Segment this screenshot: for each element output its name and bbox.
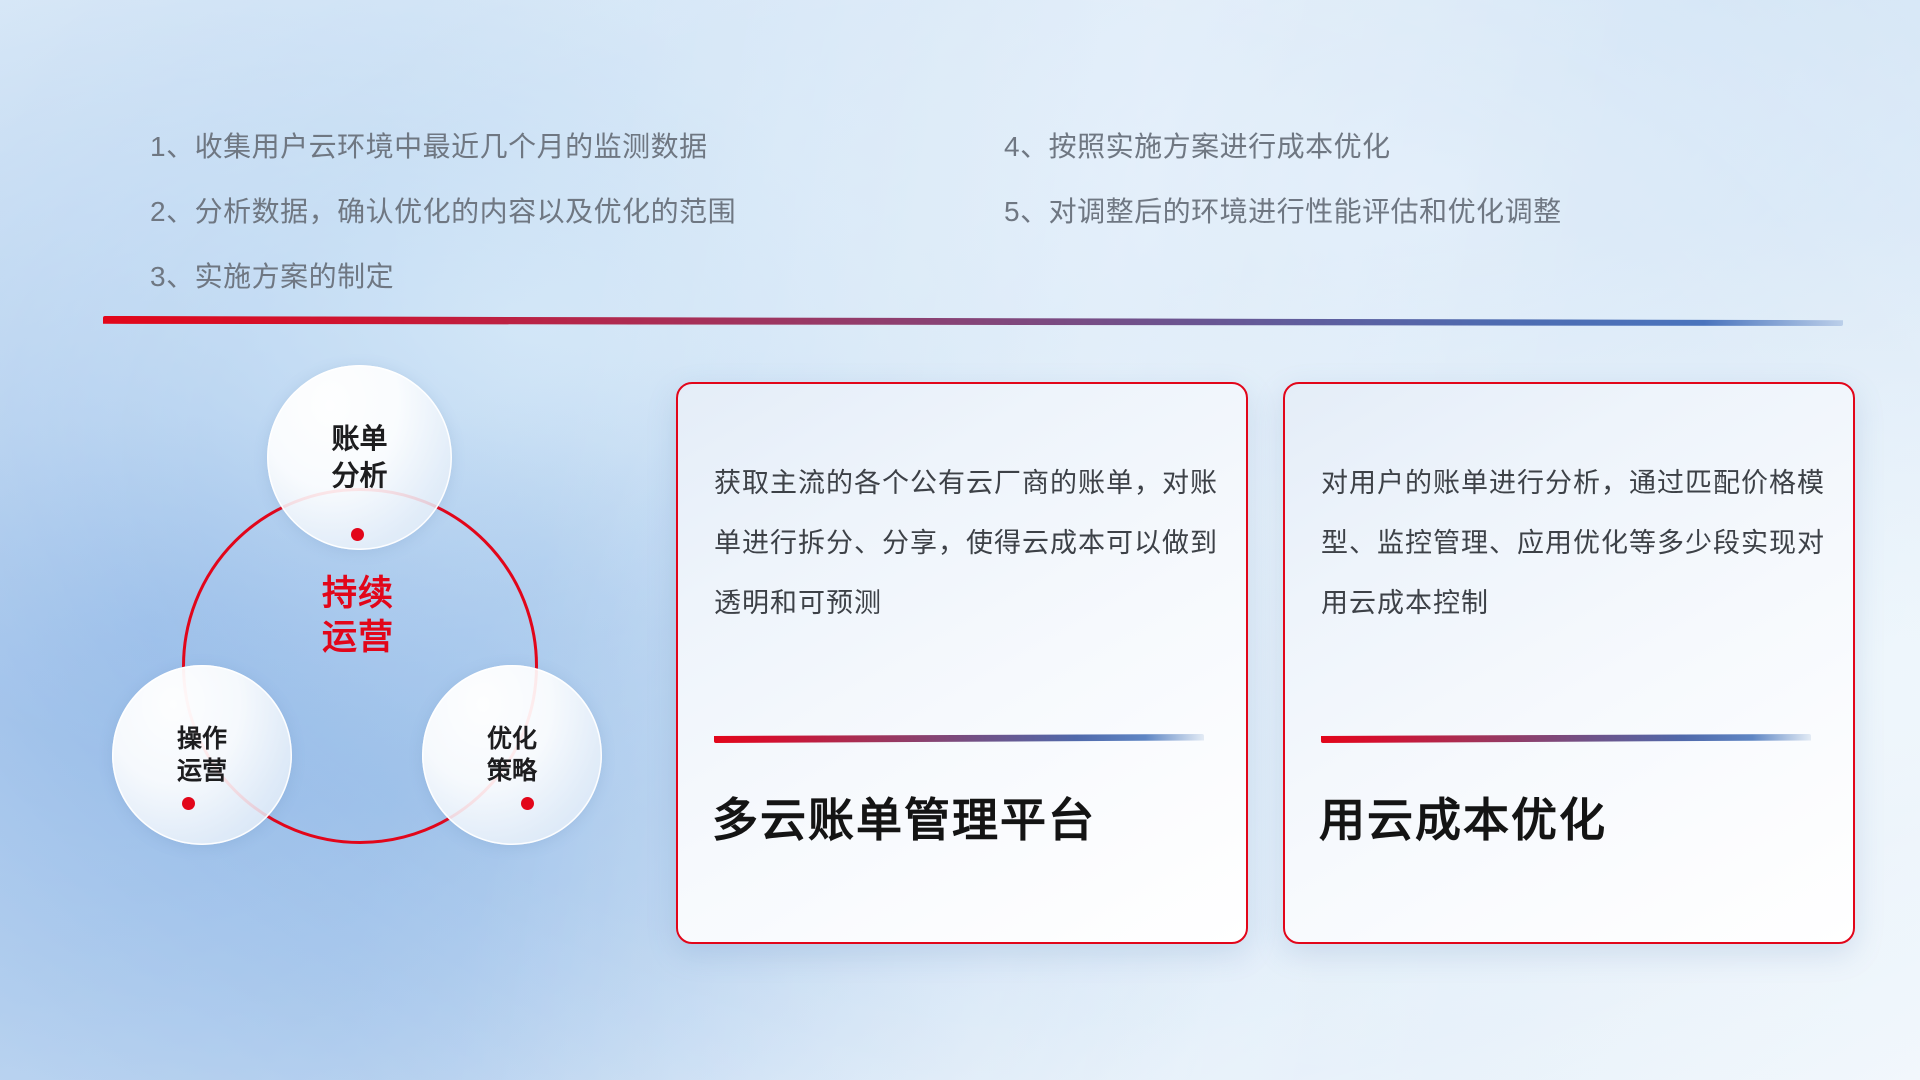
info-card-cloud-cost-optimization[interactable]: 对用户的账单进行分析，通过匹配价格模型、监控管理、应用优化等多少段实现对用云成本… xyxy=(1283,382,1855,944)
diagram-bubble-label: 操作 运营 xyxy=(177,723,227,788)
card-divider xyxy=(714,734,1204,743)
bubble-line-2: 策略 xyxy=(487,757,537,785)
step-item-4: 4、按照实施方案进行成本优化 xyxy=(1004,125,1391,165)
card-description: 对用户的账单进行分析，通过匹配价格模型、监控管理、应用优化等多少段实现对用云成本… xyxy=(1321,454,1831,634)
diagram-bubble-label: 优化 策略 xyxy=(487,723,537,788)
diagram-bubble-optimization-strategy[interactable]: 优化 策略 xyxy=(422,665,602,845)
step-item-3: 3、实施方案的制定 xyxy=(150,255,394,295)
diagram-node-top-dot xyxy=(351,528,364,541)
bubble-line-2: 运营 xyxy=(177,757,227,785)
card-description: 获取主流的各个公有云厂商的账单，对账单进行拆分、分享，使得云成本可以做到透明和可… xyxy=(714,454,1224,634)
header-divider-bar xyxy=(103,316,1843,326)
diagram-bubble-label: 账单 分析 xyxy=(331,421,387,494)
diagram-bubble-bill-analysis[interactable]: 账单 分析 xyxy=(267,365,452,550)
step-item-2: 2、分析数据，确认优化的内容以及优化的范围 xyxy=(150,190,736,230)
card-divider xyxy=(1321,734,1811,743)
center-label-line-1: 持续 xyxy=(322,574,394,613)
center-label-line-2: 运营 xyxy=(322,618,394,657)
diagram-node-left-dot xyxy=(182,797,195,810)
header-divider xyxy=(103,316,1843,326)
info-card-multicloud-billing[interactable]: 获取主流的各个公有云厂商的账单，对账单进行拆分、分享，使得云成本可以做到透明和可… xyxy=(676,382,1248,944)
bubble-line-1: 优化 xyxy=(487,725,537,753)
card-title: 多云账单管理平台 xyxy=(712,784,1222,850)
bubble-line-1: 操作 xyxy=(177,725,227,753)
steps-list: 1、收集用户云环境中最近几个月的监测数据 2、分析数据，确认优化的内容以及优化的… xyxy=(0,0,1920,250)
bubble-line-1: 账单 xyxy=(331,423,387,454)
step-item-1: 1、收集用户云环境中最近几个月的监测数据 xyxy=(150,125,708,165)
diagram-center-label: 持续 运营 xyxy=(263,572,453,660)
card-title: 用云成本优化 xyxy=(1319,784,1829,850)
diagram-bubble-operations[interactable]: 操作 运营 xyxy=(112,665,292,845)
step-item-5: 5、对调整后的环境进行性能评估和优化调整 xyxy=(1004,190,1562,230)
bubble-line-2: 分析 xyxy=(331,460,387,491)
continuous-operation-diagram: 账单 分析 操作 运营 优化 策略 持续 运营 xyxy=(100,360,660,970)
diagram-node-right-dot xyxy=(521,797,534,810)
